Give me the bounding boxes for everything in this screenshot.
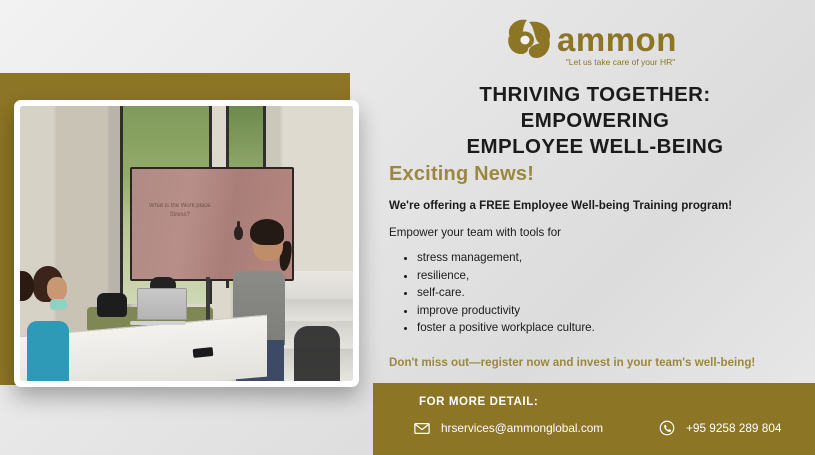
list-item: improve productivity [417, 302, 809, 320]
footer-title: FOR MORE DETAIL: [419, 396, 538, 408]
swirl-petal-logo-icon [505, 18, 553, 62]
photo-attendee-body [27, 321, 69, 382]
photo-slide-vase [234, 226, 243, 240]
contact-footer: FOR MORE DETAIL: hrservices@ammonglobal.… [373, 383, 815, 455]
lead-paragraph: We're offering a FREE Employee Well-bein… [389, 199, 809, 212]
photo-attendee-mask [50, 299, 67, 310]
photo-slide-text: What is the Work place Stress? [145, 202, 215, 221]
brand-logo: ammon "Let us take care of your HR" [505, 18, 690, 76]
sub-paragraph: Empower your team with tools for [389, 226, 809, 239]
photo-laptop [137, 288, 187, 320]
kicker-heading: Exciting News! [389, 163, 809, 186]
contact-email[interactable]: hrservices@ammonglobal.com [413, 419, 658, 437]
photo-chair [294, 326, 340, 381]
training-session-photo: What is the Work place Stress? [20, 106, 353, 381]
page-title: THRIVING TOGETHER: EMPOWERING EMPLOYEE W… [375, 82, 815, 159]
envelope-icon [413, 419, 431, 437]
photo-attendee-face [47, 277, 67, 301]
contact-row: hrservices@ammonglobal.com +95 9258 289 … [413, 419, 813, 437]
cta-text: Don't miss out—register now and invest i… [389, 356, 809, 369]
body-content: Exciting News! We're offering a FREE Emp… [389, 163, 809, 369]
contact-email-text: hrservices@ammonglobal.com [441, 421, 603, 435]
list-item: foster a positive workplace culture. [417, 319, 809, 337]
list-item: resilience, [417, 267, 809, 285]
benefits-list: stress management, resilience, self-care… [389, 249, 809, 337]
brand-tagline: "Let us take care of your HR" [548, 57, 693, 67]
photo-backpack [97, 293, 127, 317]
phone-circle-icon [658, 419, 676, 437]
poster-canvas: What is the Work place Stress? [0, 0, 815, 455]
contact-phone-text: +95 9258 289 804 [686, 421, 781, 435]
brand-name: ammon [557, 21, 677, 59]
contact-phone[interactable]: +95 9258 289 804 [658, 419, 781, 437]
photo-presenter-hair [250, 219, 284, 245]
photo-card: What is the Work place Stress? [14, 100, 359, 387]
list-item: self-care. [417, 284, 809, 302]
list-item: stress management, [417, 249, 809, 267]
photo-laptop-base [130, 321, 186, 325]
